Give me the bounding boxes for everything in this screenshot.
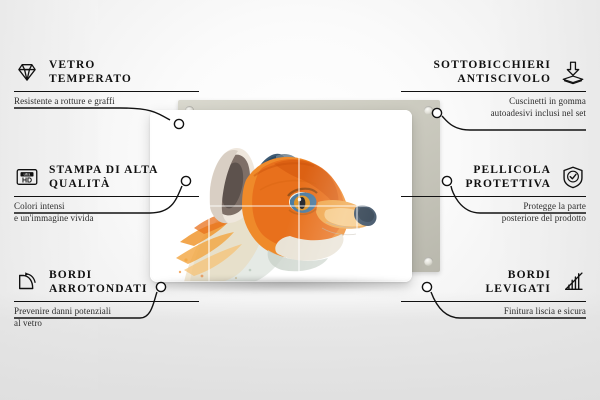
callout-title: SOTTOBICCHIERI ANTISCIVOLO: [434, 58, 551, 86]
callout-divider: [14, 196, 199, 197]
callout-subtitle-line: Finitura liscia e sicura: [401, 306, 586, 318]
callout-header: PELLICOLA PROTETTIVA: [401, 163, 586, 191]
callout-subtitle: Prevenire danni potenziali al vetro: [14, 306, 199, 329]
shield-check-icon: [560, 164, 586, 190]
callout-header: VETRO TEMPERATO: [14, 58, 199, 86]
callout-divider: [14, 91, 199, 92]
callout-divider: [401, 91, 586, 92]
callout-divider: [401, 301, 586, 302]
callout-title: BORDI LEVIGATI: [486, 268, 551, 296]
callout-stampa-alta-qualita: ultra HD STAMPA DI ALTA QUALITÀ Colori i…: [14, 163, 199, 224]
callout-title: PELLICOLA PROTETTIVA: [465, 163, 551, 191]
callout-subtitle: Resistente a rotture e graffi: [14, 96, 199, 108]
diamond-icon: [14, 59, 40, 85]
callout-header: SOTTOBICCHIERI ANTISCIVOLO: [401, 58, 586, 86]
callout-subtitle-line: e un'immagine vivida: [14, 213, 199, 225]
callout-subtitle-line: Colori intensi: [14, 201, 199, 213]
svg-text:HD: HD: [22, 178, 32, 185]
callout-subtitle: Cuscinetti in gomma autoadesivi inclusi …: [401, 96, 586, 119]
svg-text:ultra: ultra: [24, 173, 31, 177]
callout-divider: [14, 301, 199, 302]
callout-vetro-temperato: VETRO TEMPERATO Resistente a rotture e g…: [14, 58, 199, 108]
callout-title: VETRO TEMPERATO: [49, 58, 132, 86]
rounded-corner-icon: [14, 269, 40, 295]
callout-pellicola-protettiva: PELLICOLA PROTETTIVA Protegge la parte p…: [401, 163, 586, 224]
connector-line-vetro: [14, 108, 170, 120]
callout-bordi-levigati: BORDI LEVIGATI Finitura liscia e sicura: [401, 268, 586, 318]
polished-edge-icon: [560, 269, 586, 295]
screw-hole-icon: [424, 257, 433, 266]
callout-header: ultra HD STAMPA DI ALTA QUALITÀ: [14, 163, 199, 191]
callout-title: BORDI ARROTONDATI: [49, 268, 148, 296]
callout-subtitle: Finitura liscia e sicura: [401, 306, 586, 318]
callout-header: BORDI ARROTONDATI: [14, 268, 199, 296]
callout-subtitle-line: Cuscinetti in gomma: [401, 96, 586, 108]
callout-subtitle-line: Resistente a rotture e graffi: [14, 96, 199, 108]
callout-header: BORDI LEVIGATI: [401, 268, 586, 296]
callout-subtitle: Protegge la parte posteriore del prodott…: [401, 201, 586, 224]
callout-subtitle: Colori intensi e un'immagine vivida: [14, 201, 199, 224]
anti-slip-pad-icon: [560, 59, 586, 85]
callout-subtitle-line: al vetro: [14, 318, 199, 330]
callout-subtitle-line: Prevenire danni potenziali: [14, 306, 199, 318]
callout-subtitle-line: posteriore del prodotto: [401, 213, 586, 225]
callout-subtitle-line: Protegge la parte: [401, 201, 586, 213]
callout-bordi-arrotondati: BORDI ARROTONDATI Prevenire danni potenz…: [14, 268, 199, 329]
callout-sottobicchieri-antiscivolo: SOTTOBICCHIERI ANTISCIVOLO Cuscinetti in…: [401, 58, 586, 119]
product-infographic: VETRO TEMPERATO Resistente a rotture e g…: [0, 0, 600, 400]
callout-title: STAMPA DI ALTA QUALITÀ: [49, 163, 159, 191]
callout-divider: [401, 196, 586, 197]
ultra-hd-icon: ultra HD: [14, 164, 40, 190]
callout-subtitle-line: autoadesivi inclusi nel set: [401, 108, 586, 120]
